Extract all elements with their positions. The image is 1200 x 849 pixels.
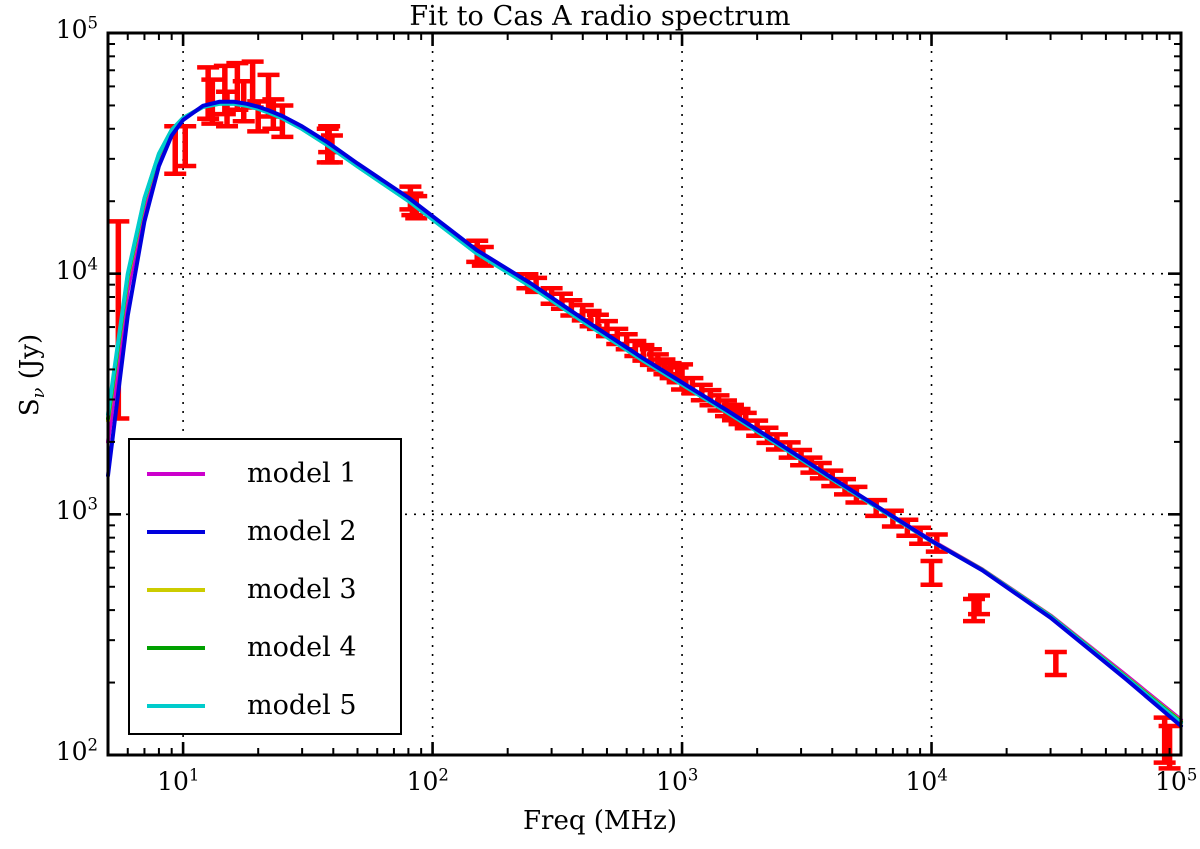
legend-item-model-4[interactable]: model 4 <box>130 618 400 677</box>
legend-item-model-3[interactable]: model 3 <box>130 560 400 619</box>
legend-label: model 5 <box>247 690 357 721</box>
legend-item-model-1[interactable]: model 1 <box>130 444 400 503</box>
y-tick-label: 105 <box>46 15 98 44</box>
x-axis-label: Freq (MHz) <box>0 806 1200 836</box>
legend-item-model-2[interactable]: model 2 <box>130 502 400 561</box>
legend-item-model-5[interactable]: model 5 <box>130 676 400 735</box>
y-axis-label: Sν (Jy) <box>15 285 45 465</box>
legend-label: model 3 <box>247 574 357 605</box>
legend-swatch-line-icon <box>147 472 205 476</box>
x-tick-label: 105 <box>1155 767 1197 796</box>
x-tick-label: 101 <box>157 767 199 796</box>
x-tick-label: 103 <box>656 767 698 796</box>
x-tick-label: 102 <box>407 767 449 796</box>
legend-label: model 2 <box>247 516 357 547</box>
x-tick-label: 104 <box>906 767 948 796</box>
legend-label: model 1 <box>247 458 357 489</box>
legend-swatch-line-icon <box>147 646 205 650</box>
y-tick-label: 102 <box>46 737 98 766</box>
y-tick-label: 103 <box>46 496 98 525</box>
legend-swatch-line-icon <box>147 704 205 708</box>
figure-canvas: Fit to Cas A radio spectrum Sν (Jy) Freq… <box>0 0 1200 849</box>
y-axis-label-text: Sν (Jy) <box>15 334 45 416</box>
legend: model 1model 2model 3model 4model 5 <box>128 438 402 735</box>
legend-swatch-line-icon <box>147 530 205 534</box>
legend-swatch-line-icon <box>147 588 205 592</box>
legend-label: model 4 <box>247 632 357 663</box>
y-tick-label: 104 <box>46 256 98 285</box>
